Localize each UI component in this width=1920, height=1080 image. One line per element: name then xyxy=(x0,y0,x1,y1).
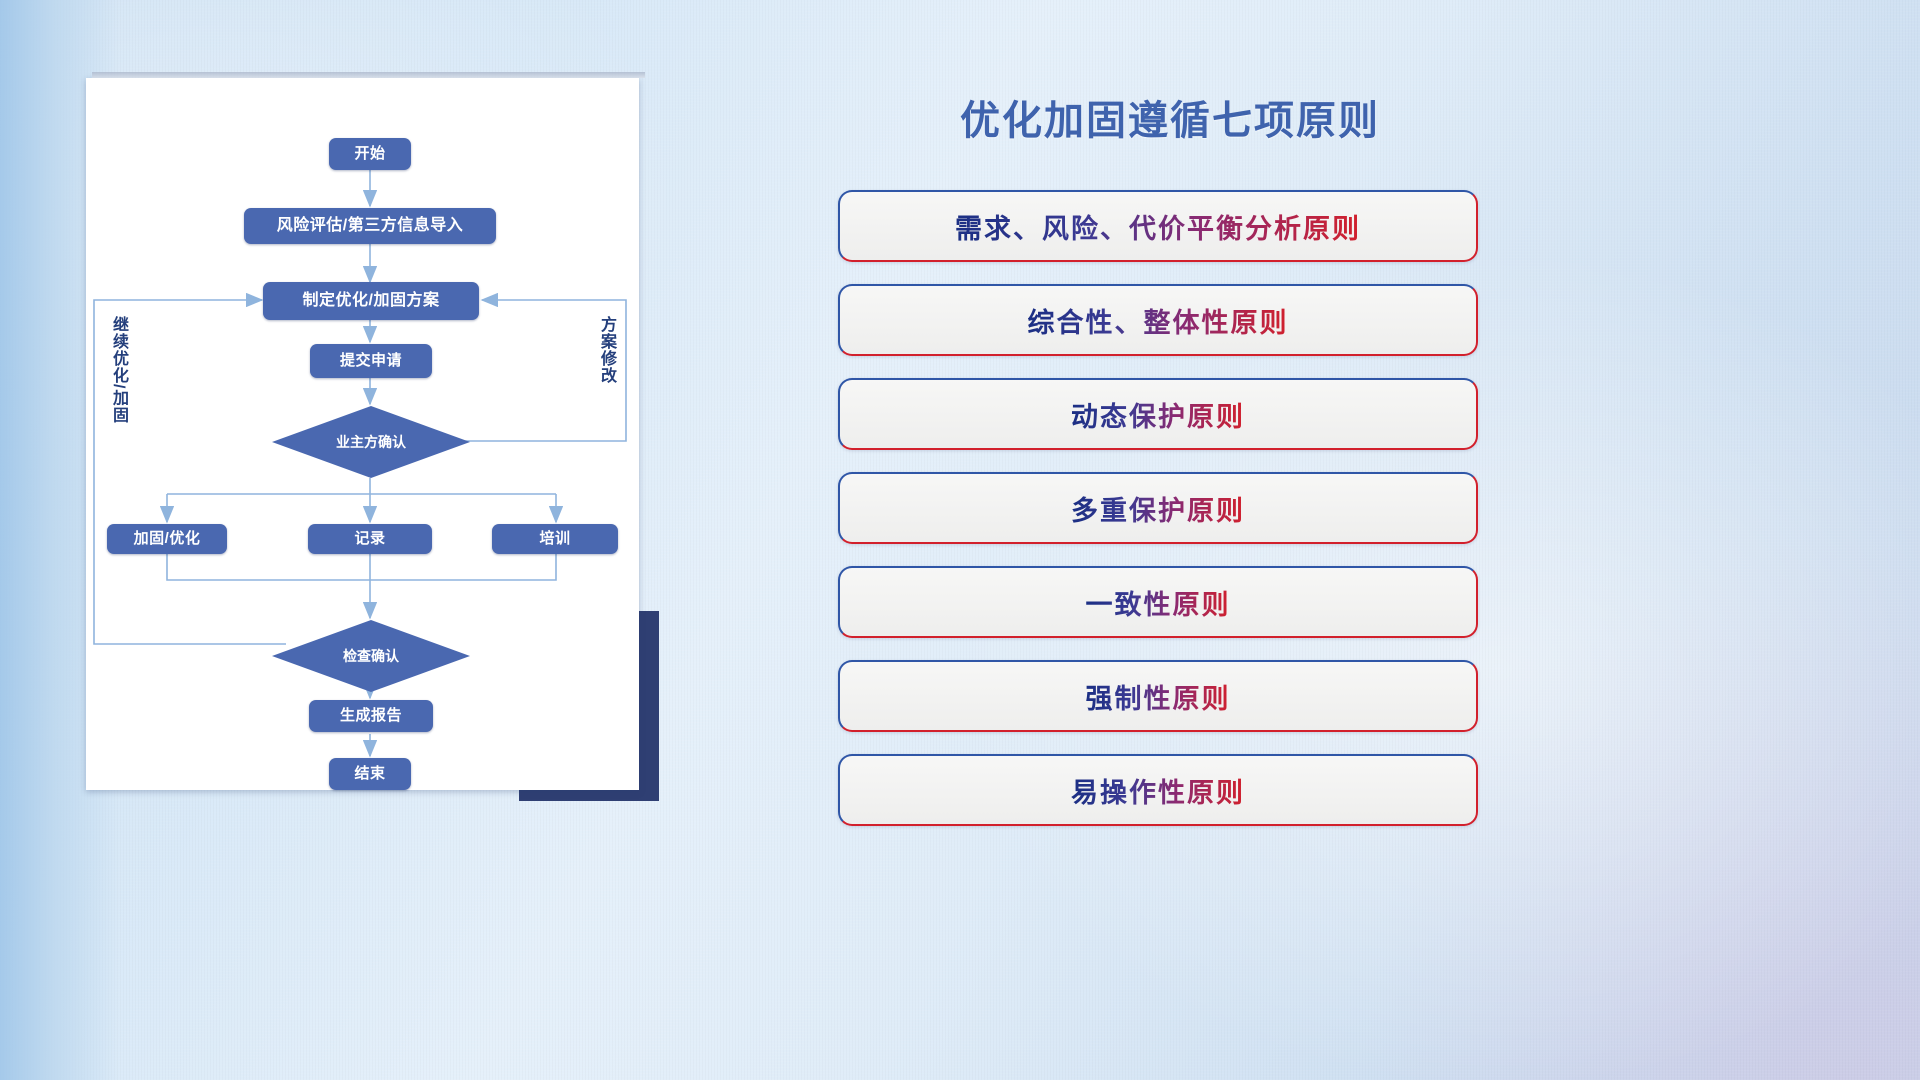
flow-node-training[interactable]: 培训 xyxy=(492,524,618,554)
principle-item-label: 多重保护原则 xyxy=(1071,489,1245,528)
principle-item[interactable]: 强制性原则 xyxy=(838,660,1478,732)
flow-node-submit-application-label: 提交申请 xyxy=(340,353,402,370)
flow-node-plan-label: 制定优化/加固方案 xyxy=(303,292,440,310)
principle-item-label: 强制性原则 xyxy=(1086,677,1231,716)
principle-item[interactable]: 动态保护原则 xyxy=(838,378,1478,450)
flowchart-card: 开始 风险评估/第三方信息导入 制定优化/加固方案 提交申请 业主方确认 加固/… xyxy=(86,78,639,790)
flow-node-record[interactable]: 记录 xyxy=(308,524,432,554)
flow-decision-check-confirm-label: 检查确认 xyxy=(343,646,399,666)
flow-node-plan[interactable]: 制定优化/加固方案 xyxy=(263,282,479,320)
principle-item[interactable]: 多重保护原则 xyxy=(838,472,1478,544)
flow-node-generate-report-label: 生成报告 xyxy=(340,708,402,725)
flow-edge-label-plan-revision: 方案修改 xyxy=(598,316,614,384)
flow-node-training-label: 培训 xyxy=(539,531,570,548)
principle-item[interactable]: 综合性、整体性原则 xyxy=(838,284,1478,356)
flow-node-risk-assessment-label: 风险评估/第三方信息导入 xyxy=(277,217,463,235)
flow-node-record-label: 记录 xyxy=(354,531,385,548)
flow-node-end[interactable]: 结束 xyxy=(329,758,411,790)
flow-node-submit-application[interactable]: 提交申请 xyxy=(310,344,432,378)
flow-node-generate-report[interactable]: 生成报告 xyxy=(309,700,433,732)
principle-item[interactable]: 易操作性原则 xyxy=(838,754,1478,826)
principle-item[interactable]: 需求、风险、代价平衡分析原则 xyxy=(838,190,1478,262)
flow-decision-owner-confirm-label: 业主方确认 xyxy=(336,432,406,452)
flow-node-start-label: 开始 xyxy=(354,146,385,163)
flow-node-end-label: 结束 xyxy=(354,766,385,783)
principle-item-label: 易操作性原则 xyxy=(1071,771,1245,810)
flow-edge-label-continue-optimize: 继续优化/加固 xyxy=(110,316,126,423)
flow-node-reinforce[interactable]: 加固/优化 xyxy=(107,524,227,554)
flow-node-start[interactable]: 开始 xyxy=(329,138,411,170)
principle-item[interactable]: 一致性原则 xyxy=(838,566,1478,638)
flow-node-risk-assessment[interactable]: 风险评估/第三方信息导入 xyxy=(244,208,496,244)
principles-title: 优化加固遵循七项原则 xyxy=(840,88,1500,146)
principle-item-label: 动态保护原则 xyxy=(1071,395,1245,434)
principles-list: 需求、风险、代价平衡分析原则 综合性、整体性原则 动态保护原则 多重保护原则 一… xyxy=(838,190,1478,848)
flow-node-reinforce-label: 加固/优化 xyxy=(134,531,201,548)
principle-item-label: 需求、风险、代价平衡分析原则 xyxy=(955,207,1361,246)
principle-item-label: 一致性原则 xyxy=(1086,583,1231,622)
principle-item-label: 综合性、整体性原则 xyxy=(1028,301,1289,340)
